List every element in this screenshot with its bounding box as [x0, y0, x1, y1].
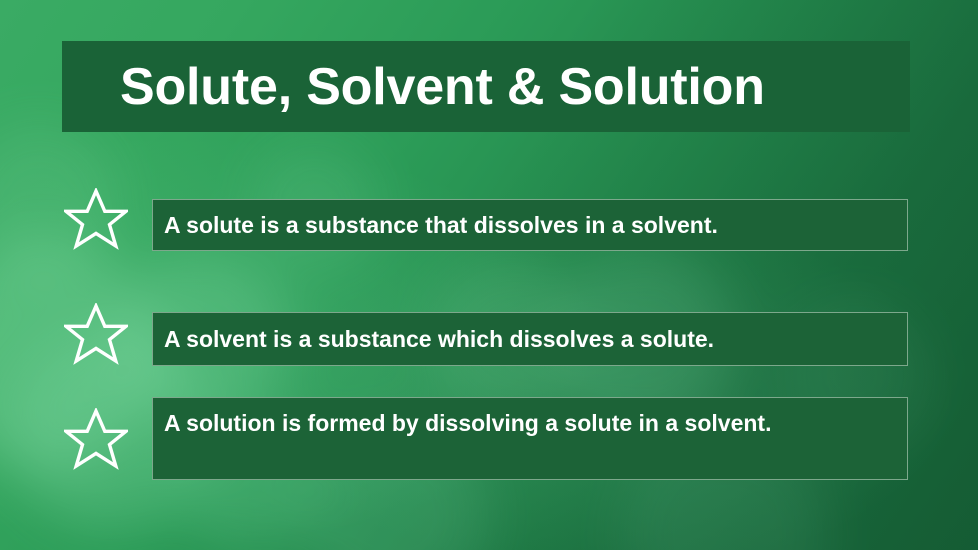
- bullet-text: A solution is formed by dissolving a sol…: [153, 406, 785, 440]
- page-title: Solute, Solvent & Solution: [62, 61, 765, 113]
- star-outline-icon: [64, 408, 128, 470]
- bullet-callout: A solution is formed by dissolving a sol…: [152, 397, 908, 480]
- star-outline-icon: [64, 303, 128, 365]
- title-panel: Solute, Solvent & Solution: [62, 41, 910, 132]
- bullet-text: A solute is a substance that dissolves i…: [153, 208, 732, 242]
- bullet-callout: A solvent is a substance which dissolves…: [152, 312, 908, 366]
- bullet-text: A solvent is a substance which dissolves…: [153, 322, 728, 356]
- star-outline-icon: [64, 188, 128, 250]
- bullet-callout: A solute is a substance that dissolves i…: [152, 199, 908, 251]
- slide-canvas: Solute, Solvent & Solution A solute is a…: [0, 0, 978, 550]
